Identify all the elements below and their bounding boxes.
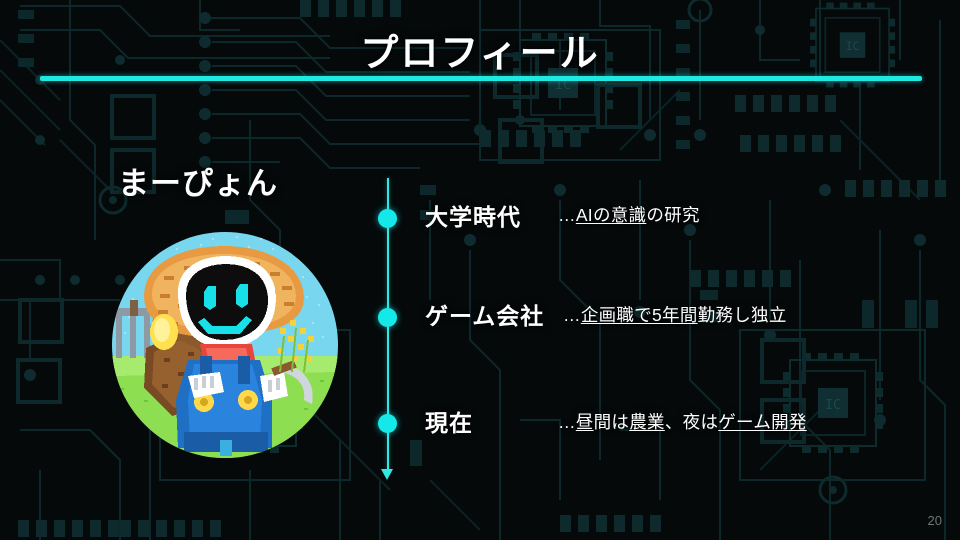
timeline-item-3-mid-2: 、夜は [665,412,718,432]
timeline-dot-3 [378,414,397,433]
timeline-item-2-description: …企画職で5年間勤務し独立 [563,302,787,327]
timeline-item-2-label: ゲーム会社 [425,297,544,331]
page-number: 20 [928,513,942,528]
timeline-dot-2 [378,308,397,327]
page-title: プロフィール [0,22,960,77]
timeline-item-1-underlined: AIの意識 [576,205,647,225]
timeline-item-1-prefix: … [558,205,576,225]
title-underline-rule [40,76,922,81]
timeline-arrow-icon [381,469,393,480]
timeline-item-3-underlined-2: 農業 [629,412,665,432]
timeline-dot-1 [378,209,397,228]
timeline-item-3-label: 現在 [425,404,473,438]
timeline-item-3-underlined-3: ゲーム開発 [718,412,806,432]
profile-name: まーぴょん [118,158,278,203]
timeline-item-2-suffix: 勤務し独立 [698,305,787,325]
timeline-item-1-description: …AIの意識の研究 [558,202,700,227]
timeline-item-3-mid-1: 間は [594,412,630,432]
timeline-item-2-underlined: 企画職で5年間 [581,305,698,325]
timeline-item-1-label: 大学時代 [425,198,521,232]
avatar [112,232,338,458]
timeline-item-1-suffix: の研究 [646,205,699,225]
timeline-item-3-description: …昼間は農業、夜はゲーム開発 [558,409,807,434]
slide: IC [0,0,960,540]
timeline-item-3-prefix: … [558,412,576,432]
timeline-item-2-prefix: … [563,305,581,325]
timeline-item-3-underlined-1: 昼 [576,412,594,432]
